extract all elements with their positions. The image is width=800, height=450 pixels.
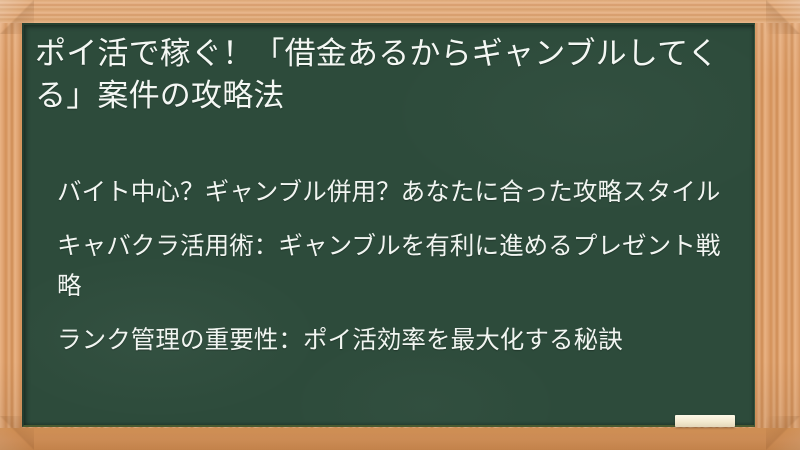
blackboard-surface: ポイ活で稼ぐ！「借金あるからギャンブルしてくる」案件の攻略法 バイト中心？ギャン…	[22, 23, 755, 427]
list-item: ランク管理の重要性：ポイ活効率を最大化する秘訣	[57, 321, 742, 361]
frame-rail-top	[0, 0, 800, 23]
page-title: ポイ活で稼ぐ！「借金あるからギャンブルしてくる」案件の攻略法	[35, 33, 740, 117]
heading-list: バイト中心？ギャンブル併用？あなたに合った攻略スタイル キャバクラ活用術：ギャン…	[57, 173, 742, 361]
frame-ledge-bottom	[0, 428, 800, 450]
chalkboard-frame: ポイ活で稼ぐ！「借金あるからギャンブルしてくる」案件の攻略法 バイト中心？ギャン…	[0, 0, 800, 450]
chalk-stick	[675, 415, 735, 427]
list-item: バイト中心？ギャンブル併用？あなたに合った攻略スタイル	[57, 173, 742, 213]
list-item: キャバクラ活用術：ギャンブルを有利に進めるプレゼント戦略	[57, 227, 742, 307]
